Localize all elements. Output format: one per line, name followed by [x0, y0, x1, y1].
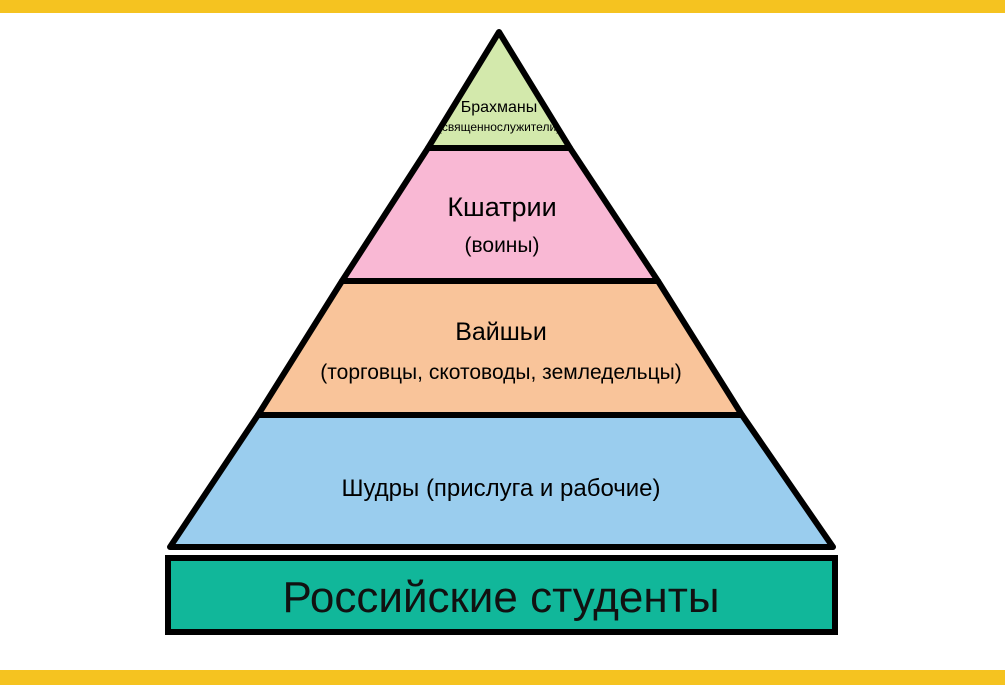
tier-subtitle-brahmans: (священнослужители): [438, 120, 560, 134]
diagram-canvas: Брахманы (священнослужители) Кшатрии (во…: [0, 0, 1005, 685]
tier-subtitle-kshatriyas: (воины): [464, 234, 539, 257]
tier-title-brahmans: Брахманы: [461, 99, 538, 116]
footer-box-label: Российские студенты: [283, 573, 720, 622]
pyramid-tier-kshatriyas[interactable]: Кшатрии (воины): [342, 148, 658, 281]
tier-title-kshatriyas: Кшатрии: [447, 192, 556, 222]
pyramid-tier-shudras[interactable]: Шудры (прислуга и рабочие): [170, 415, 833, 547]
pyramid-tier-brahmans[interactable]: Брахманы (священнослужители): [428, 32, 570, 148]
tier-title-shudras: Шудры (прислуга и рабочие): [341, 475, 660, 502]
tier-title-vaishyas: Вайшьи: [455, 318, 547, 346]
footer-box-russian-students[interactable]: Российские студенты: [168, 558, 835, 632]
tier-subtitle-vaishyas: (торговцы, скотоводы, земледельцы): [320, 361, 681, 384]
tier-shape-vaishyas: [258, 281, 742, 415]
pyramid-tier-vaishyas[interactable]: Вайшьи (торговцы, скотоводы, земледельцы…: [258, 281, 742, 415]
caste-pyramid-diagram: Брахманы (священнослужители) Кшатрии (во…: [0, 0, 1005, 685]
